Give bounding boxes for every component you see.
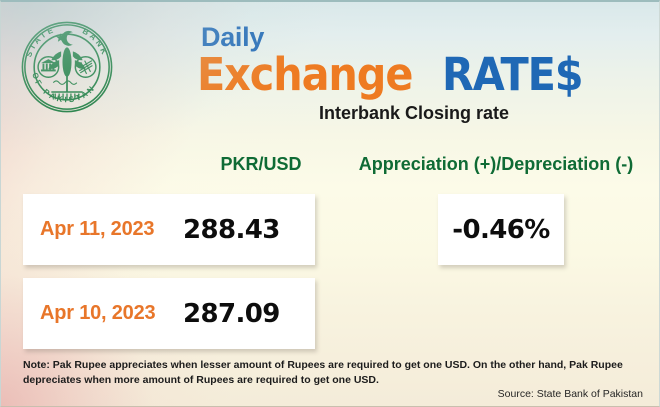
table-row: Apr 11, 2023 288.43 [23,194,315,265]
svg-text:PAKISTAN: PAKISTAN [42,83,98,105]
state-bank-of-pakistan-logo: STATE BANK OF PAKISTAN [18,18,116,116]
title-main: ExchangeRATE$ [197,52,637,97]
change-card: -0.46% [438,194,564,265]
svg-text:STATE: STATE [24,25,57,59]
title-word-exchange: Exchange [197,52,412,97]
note-text: Note: Pak Rupee appreciates when lesser … [23,358,643,388]
source-text: Source: State Bank of Pakistan [498,388,643,400]
exchange-rate-infographic: STATE BANK OF PAKISTAN [0,0,660,407]
rate-date: Apr 10, 2023 [23,302,183,325]
column-header-pkr-usd: PKR/USD [201,154,321,175]
title-daily: Daily [197,24,637,51]
svg-text:OF: OF [30,72,45,90]
title-block: Daily ExchangeRATE$ Interbank Closing ra… [197,24,637,124]
rate-value: 287.09 [183,299,315,329]
svg-text:BANK: BANK [81,27,110,58]
change-value: -0.46% [452,215,549,245]
rate-value: 288.43 [183,215,315,245]
title-word-rates: RATE$ [442,52,583,97]
rate-date: Apr 11, 2023 [23,218,183,241]
title-subtitle: Interbank Closing rate [197,103,637,124]
table-row: Apr 10, 2023 287.09 [23,278,315,349]
column-header-appreciation-depreciation: Appreciation (+)/Depreciation (-) [343,154,649,175]
